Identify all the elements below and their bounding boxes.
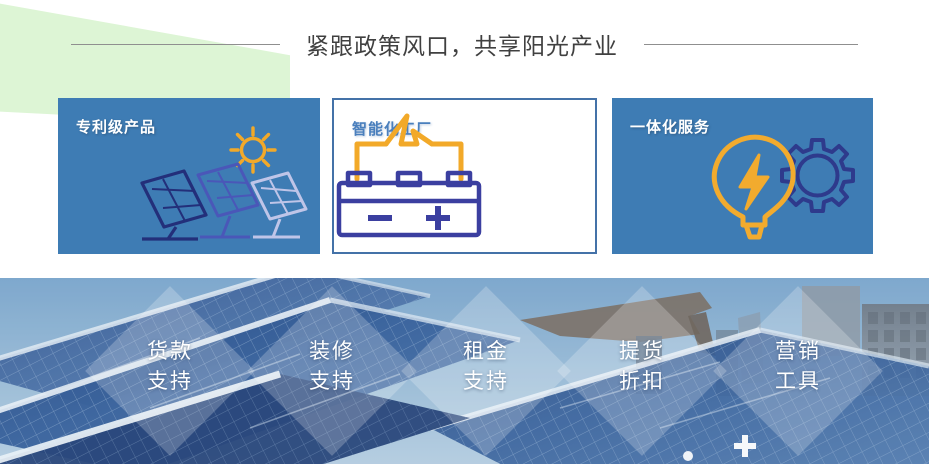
- title-rule-left: [71, 44, 280, 45]
- benefit-label-line1: 装修: [246, 337, 418, 367]
- benefit-diamond-row: 货款 支持 装修 支持 租金 支持: [0, 278, 929, 464]
- slide-title-row: 紧跟政策风口，共享阳光产业: [0, 26, 929, 62]
- benefit-label-line1: 提货: [556, 337, 728, 367]
- benefit-item-loan-support[interactable]: 货款 支持: [84, 284, 256, 458]
- benefit-item-marketing-tools[interactable]: 营销 工具: [712, 284, 884, 458]
- benefit-label-line2: 支持: [246, 367, 418, 397]
- solar-panel-sun-icon: [120, 125, 310, 248]
- battery-lightning-icon: [334, 111, 595, 244]
- benefit-label-line2: 工具: [712, 367, 884, 397]
- benefit-label-line2: 支持: [84, 367, 256, 397]
- benefit-label: 提货 折扣: [556, 337, 728, 397]
- lightbulb-gear-icon: [695, 121, 863, 248]
- slide-root: 紧跟政策风口，共享阳光产业 专利级产品: [0, 0, 929, 464]
- benefit-label-line1: 租金: [400, 337, 572, 367]
- benefits-photo-band: 货款 支持 装修 支持 租金 支持: [0, 278, 929, 464]
- benefit-label: 装修 支持: [246, 337, 418, 397]
- feature-card-smart-factory[interactable]: 智能化工厂: [332, 98, 597, 254]
- benefit-label-line2: 支持: [400, 367, 572, 397]
- benefit-item-decoration-support[interactable]: 装修 支持: [246, 284, 418, 458]
- benefit-label: 货款 支持: [84, 337, 256, 397]
- feature-card-integrated-service[interactable]: 一体化服务: [612, 98, 873, 254]
- benefit-item-rent-support[interactable]: 租金 支持: [400, 284, 572, 458]
- benefit-label-line1: 营销: [712, 337, 884, 367]
- benefit-label-line1: 货款: [84, 337, 256, 367]
- benefit-label-line2: 折扣: [556, 367, 728, 397]
- page-title: 紧跟政策风口，共享阳光产业: [306, 27, 618, 61]
- benefit-item-pickup-discount[interactable]: 提货 折扣: [556, 284, 728, 458]
- benefit-label: 营销 工具: [712, 337, 884, 397]
- feature-card-patent-product[interactable]: 专利级产品: [58, 98, 320, 254]
- title-rule-right: [644, 44, 858, 45]
- benefit-label: 租金 支持: [400, 337, 572, 397]
